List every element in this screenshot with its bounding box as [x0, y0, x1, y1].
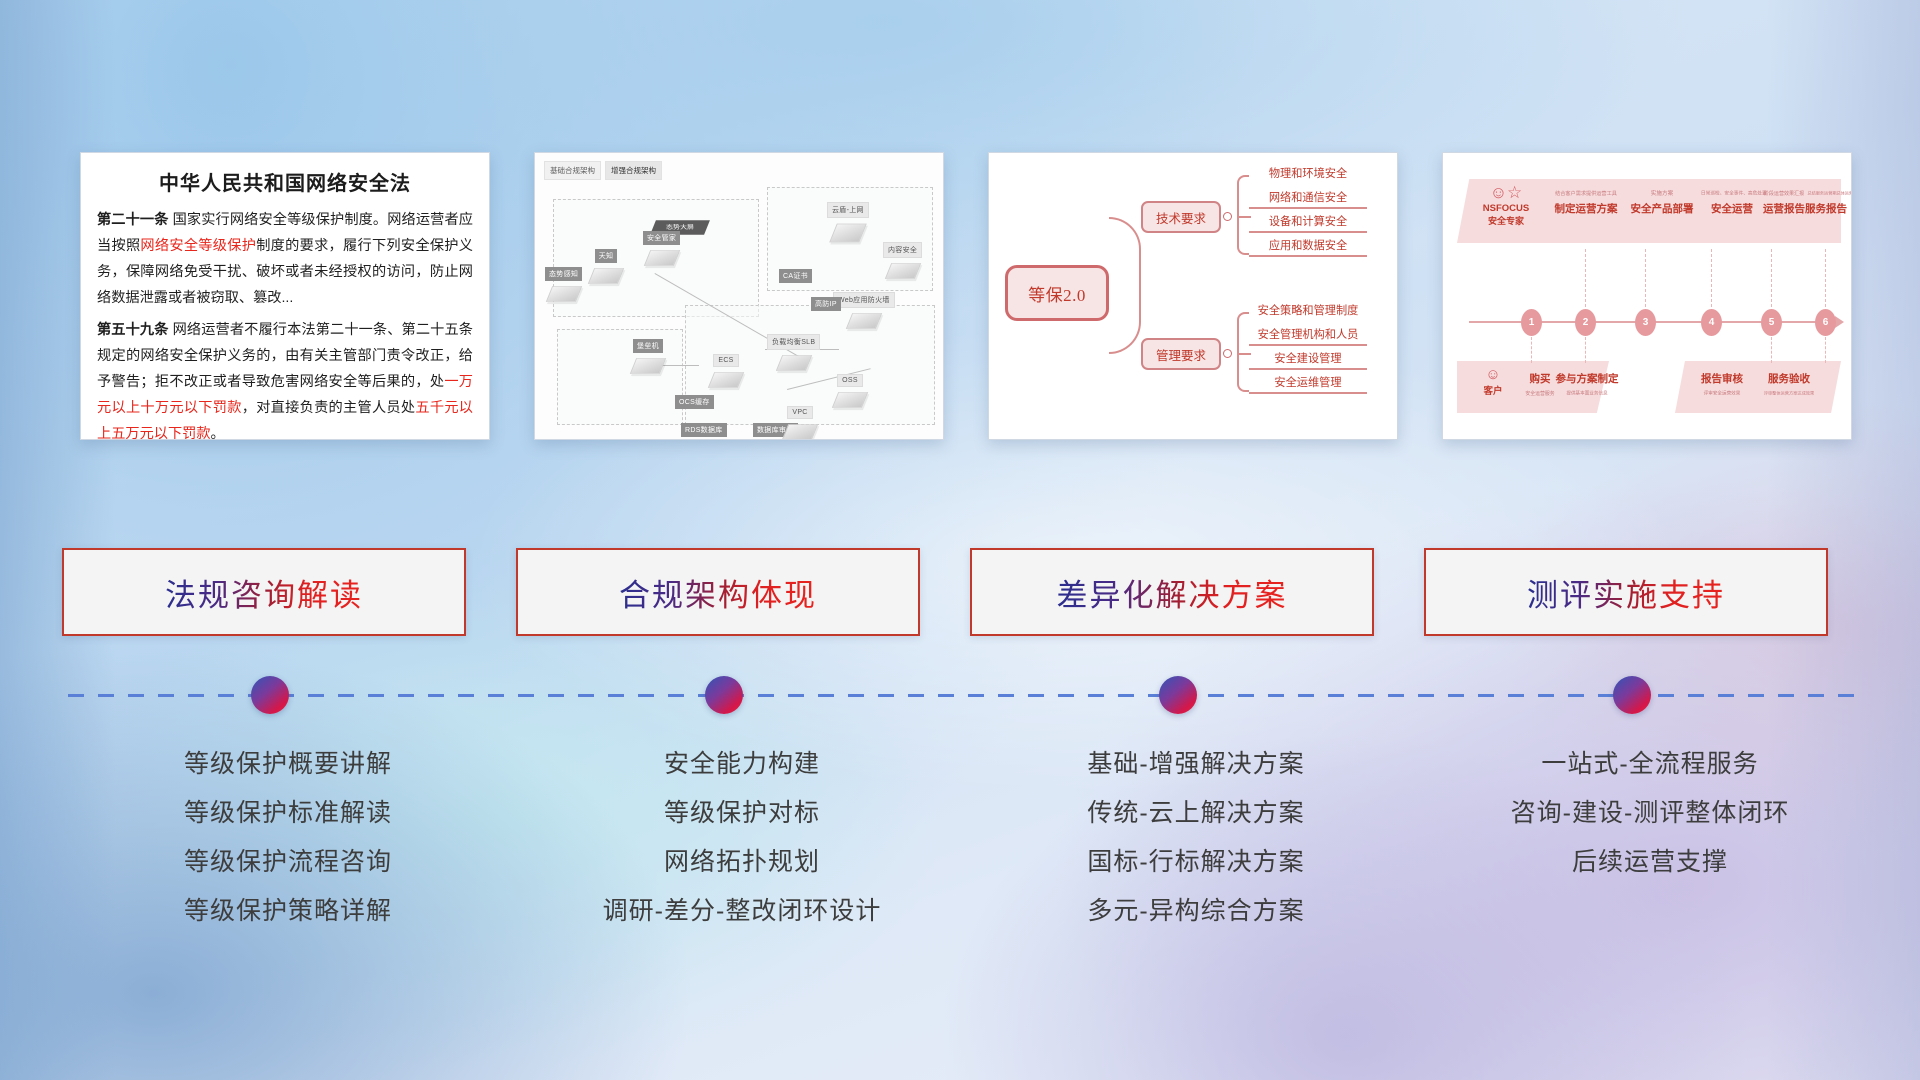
list-item: 安全能力构建: [516, 740, 968, 789]
timeline-stem-lower: [1771, 337, 1772, 363]
bullet-list-solutions: 基础-增强解决方案 传统-云上解决方案 国标-行标解决方案 多元-异构综合方案: [970, 740, 1422, 936]
node-label: ECS: [713, 354, 738, 367]
node-label: 内容安全: [883, 242, 922, 258]
timeline-stem: [1825, 249, 1826, 307]
mindmap-branch-dot: [1223, 349, 1232, 358]
customer-label: 客户: [1471, 383, 1515, 397]
server-icon: [829, 224, 867, 243]
law-highlight-21: 网络安全等级保护: [140, 238, 256, 254]
headline-text-solutions: 差异化解决方案: [1057, 570, 1288, 615]
mindmap-root-node: 等保2.0: [1005, 265, 1109, 321]
node-label: 态势感知: [545, 267, 582, 281]
timeline-stem: [1711, 249, 1712, 307]
customer-block: ☺ 客户: [1471, 367, 1515, 397]
step-subtitle: 提供基本面业务信息: [1560, 390, 1614, 397]
nsfocus-logo-line2: 安全专家: [1475, 214, 1537, 227]
list-item: 等级保护策略详解: [62, 887, 514, 936]
node-label: 云盾-上网: [827, 202, 869, 218]
node-slb: 负载均衡SLB: [767, 331, 820, 374]
list-item: 等级保护标准解读: [62, 789, 514, 838]
headline-text-regulation: 法规咨询解读: [165, 570, 363, 615]
timeline-bottom-step-2: 参与方案制定 提供基本面业务信息: [1555, 371, 1619, 397]
mindmap-leaf: 安全策略和管理制度: [1249, 302, 1367, 320]
nsfocus-logo-line1: NSFOCUS: [1475, 203, 1537, 214]
headline-box-assessment[interactable]: 测评实施支持: [1424, 548, 1828, 636]
mindmap-leaf: 应用和数据安全: [1249, 237, 1367, 257]
server-icon: [708, 372, 744, 388]
timeline-node-3: 3: [1635, 309, 1656, 336]
server-icon: [775, 355, 811, 371]
timeline-stem-lower: [1531, 337, 1532, 363]
law-text-59c: 。: [211, 426, 225, 440]
mindmap-leaf: 安全运维管理: [1249, 374, 1367, 394]
step-title: 服务验收: [1755, 371, 1823, 386]
law-text-59b: ，对直接负责的主管人员处: [242, 400, 416, 416]
mindmap-leaf: 安全管理机构和人员: [1249, 326, 1367, 346]
node-content-security: 内容安全: [883, 239, 922, 282]
timeline-stem: [1771, 249, 1772, 307]
node-rds-db: RDS数据库: [681, 419, 727, 437]
server-icon: [832, 392, 868, 408]
timeline-node-6: 6: [1815, 309, 1836, 336]
zone-bastion: [557, 329, 683, 425]
mindmap-leaf: 物理和环境安全: [1249, 165, 1367, 183]
timeline-marker-dot-1[interactable]: [251, 676, 289, 714]
node-tianzhi: 天知: [591, 245, 621, 287]
step-title: 服务报告: [1801, 201, 1851, 216]
step-subtitle: 评审安全运营效果: [1697, 390, 1746, 397]
dengbao-mindmap-card[interactable]: 等保2.0 技术要求 物理和环境安全 网络和通信安全 设备和计算安全 应用和数据…: [988, 152, 1398, 440]
node-label: 堡垒机: [633, 339, 663, 353]
server-icon: [782, 424, 818, 440]
bullet-list-assessment: 一站式-全流程服务 咨询-建设-测评整体闭环 后续运营支撑: [1424, 740, 1876, 887]
timeline-top-step-2: 实施方案 安全产品部署: [1625, 189, 1699, 216]
headline-box-regulation[interactable]: 法规咨询解读: [62, 548, 466, 636]
list-item: 等级保护对标: [516, 789, 968, 838]
timeline-stem-lower: [1585, 337, 1586, 363]
step-title: 参与方案制定: [1555, 371, 1619, 386]
node-vpc: VPC: [785, 401, 815, 440]
law-paragraph-21: 第二十一条 国家实行网络安全等级保护制度。网络运营者应当按照网络安全等级保护制度…: [97, 208, 473, 311]
headline-text-architecture: 合规架构体现: [619, 570, 817, 615]
node-label: 负载均衡SLB: [767, 334, 820, 350]
server-icon: [846, 313, 882, 329]
tab-basic-architecture[interactable]: 基础合规架构: [544, 161, 601, 180]
headline-box-architecture[interactable]: 合规架构体现: [516, 548, 920, 636]
headline-box-solutions[interactable]: 差异化解决方案: [970, 548, 1374, 636]
node-label: 高防IP: [811, 297, 841, 311]
server-icon: [884, 263, 920, 279]
process-timeline-dashed-line: [68, 694, 1856, 697]
node-anti-ddos-ip: 高防IP: [811, 293, 841, 311]
node-cloud-shield: 云盾-上网: [827, 199, 869, 246]
node-label: VPC: [787, 406, 812, 419]
node-label: OCS缓存: [675, 395, 714, 409]
timeline-arrow-icon: [1835, 316, 1844, 328]
mindmap-spine-management: [1237, 312, 1249, 392]
list-item: 传统-云上解决方案: [970, 789, 1422, 838]
timeline-stem: [1645, 249, 1646, 307]
list-item: 等级保护概要讲解: [62, 740, 514, 789]
timeline-stem: [1585, 249, 1586, 307]
timeline-bottom-step-3: 报告审核 评审安全运营效果: [1693, 371, 1751, 397]
timeline-node-5: 5: [1761, 309, 1782, 336]
step-title: 报告审核: [1693, 371, 1751, 386]
cybersecurity-law-card[interactable]: 中华人民共和国网络安全法 第二十一条 国家实行网络安全等级保护制度。网络运营者应…: [80, 152, 490, 440]
node-label: CA证书: [779, 269, 812, 283]
node-label: Web应用防火墙: [833, 292, 895, 308]
service-timeline-diagram: ☺☆ NSFOCUS 安全专家 结合客户需求提供运营工具 制定运营方案 实施方案…: [1443, 153, 1851, 439]
list-item: 国标-行标解决方案: [970, 838, 1422, 887]
law-card-body: 中华人民共和国网络安全法 第二十一条 国家实行网络安全等级保护制度。网络运营者应…: [81, 153, 489, 440]
mindmap-branch-management: 管理要求: [1141, 338, 1221, 370]
list-item: 调研-差分-整改闭环设计: [516, 887, 968, 936]
node-ca-cert: CA证书: [779, 265, 812, 283]
timeline-marker-dot-3[interactable]: [1159, 676, 1197, 714]
step-subtitle: 总结服务运营期总体运营效果: [1808, 190, 1845, 196]
timeline-node-1: 1: [1521, 309, 1542, 336]
timeline-node-2: 2: [1575, 309, 1596, 336]
node-label: 天知: [595, 249, 618, 263]
law-card-title: 中华人民共和国网络安全法: [97, 167, 473, 196]
list-item: 网络拓扑规划: [516, 838, 968, 887]
timeline-top-step-5: 总结服务运营期总体运营效果 服务报告: [1801, 189, 1851, 216]
node-ecs: ECS: [711, 349, 741, 391]
mindmap-spine-technical: [1237, 175, 1249, 255]
list-item: 咨询-建设-测评整体闭环: [1424, 789, 1876, 838]
law-article-label-21: 第二十一条: [97, 212, 169, 228]
mindmap-diagram: 等保2.0 技术要求 物理和环境安全 网络和通信安全 设备和计算安全 应用和数据…: [989, 153, 1397, 439]
node-security-manager: 安全管家: [643, 227, 680, 269]
slide-stage: 中华人民共和国网络安全法 第二十一条 国家实行网络安全等级保护制度。网络运营者应…: [0, 0, 1920, 1080]
bullet-list-regulation: 等级保护概要讲解 等级保护标准解读 等级保护流程咨询 等级保护策略详解: [62, 740, 514, 936]
node-bastion-host: 堡垒机: [633, 335, 663, 377]
step-subtitle: 评审整体运营方案达成效果: [1762, 390, 1815, 396]
mindmap-branch-dot: [1223, 212, 1232, 221]
node-waf: Web应用防火墙: [833, 289, 895, 332]
mindmap-leaf: 网络和通信安全: [1249, 189, 1367, 209]
expert-person-icon: ☺☆: [1475, 184, 1537, 201]
step-subtitle: 结合客户需求提供运营工具: [1552, 189, 1620, 196]
law-paragraph-59: 第五十九条 网络运营者不履行本法第二十一条、第二十五条规定的网络安全保护义务的，…: [97, 318, 473, 440]
list-item: 多元-异构综合方案: [970, 887, 1422, 936]
list-item: 一站式-全流程服务: [1424, 740, 1876, 789]
mindmap-leaf: 设备和计算安全: [1249, 213, 1367, 233]
customer-person-icon: ☺: [1471, 367, 1515, 382]
bullet-list-architecture: 安全能力构建 等级保护对标 网络拓扑规划 调研-差分-整改闭环设计: [516, 740, 968, 936]
server-icon: [630, 358, 666, 374]
node-label: OSS: [837, 374, 863, 387]
timeline-stem-lower: [1825, 337, 1826, 363]
mindmap-branch-technical: 技术要求: [1141, 201, 1221, 233]
nsfocus-logo: ☺☆ NSFOCUS 安全专家: [1475, 184, 1537, 227]
node-oss: OSS: [835, 369, 865, 411]
tab-enhanced-architecture[interactable]: 增强合规架构: [605, 161, 662, 180]
step-title: 安全产品部署: [1625, 201, 1699, 216]
cloud-compliance-architecture-card[interactable]: 基础合规架构 增强合规架构 态势大屏 态势感: [534, 152, 944, 440]
node-situation-awareness: 态势感知: [545, 263, 582, 305]
list-item: 基础-增强解决方案: [970, 740, 1422, 789]
node-label: RDS数据库: [681, 423, 727, 437]
headline-text-assessment: 测评实施支持: [1527, 570, 1725, 615]
server-icon: [545, 286, 581, 302]
timeline-top-step-1: 结合客户需求提供运营工具 制定运营方案: [1549, 189, 1623, 216]
mindmap-leaf: 安全建设管理: [1249, 350, 1367, 370]
architecture-diagram: 基础合规架构 增强合规架构 态势大屏 态势感: [535, 153, 943, 439]
timeline-marker-dot-4[interactable]: [1613, 676, 1651, 714]
mindmap-curve-down: [1109, 293, 1141, 354]
timeline-node-4: 4: [1701, 309, 1722, 336]
step-title: 制定运营方案: [1549, 201, 1623, 216]
mindmap-curve-up: [1109, 217, 1141, 293]
law-article-label-59: 第五十九条: [97, 322, 169, 338]
server-icon: [643, 250, 679, 266]
server-icon: [588, 268, 624, 284]
nsfocus-service-timeline-card[interactable]: ☺☆ NSFOCUS 安全专家 结合客户需求提供运营工具 制定运营方案 实施方案…: [1442, 152, 1852, 440]
list-item: 等级保护流程咨询: [62, 838, 514, 887]
timeline-bottom-step-4: 服务验收 评审整体运营方案达成效果: [1755, 371, 1823, 397]
architecture-tabs[interactable]: 基础合规架构 增强合规架构: [544, 161, 662, 180]
node-label: 安全管家: [643, 231, 680, 245]
timeline-marker-dot-2[interactable]: [705, 676, 743, 714]
list-item: 后续运营支撑: [1424, 838, 1876, 887]
step-subtitle: 实施方案: [1625, 189, 1699, 197]
node-ocs-cache: OCS缓存: [675, 391, 714, 409]
